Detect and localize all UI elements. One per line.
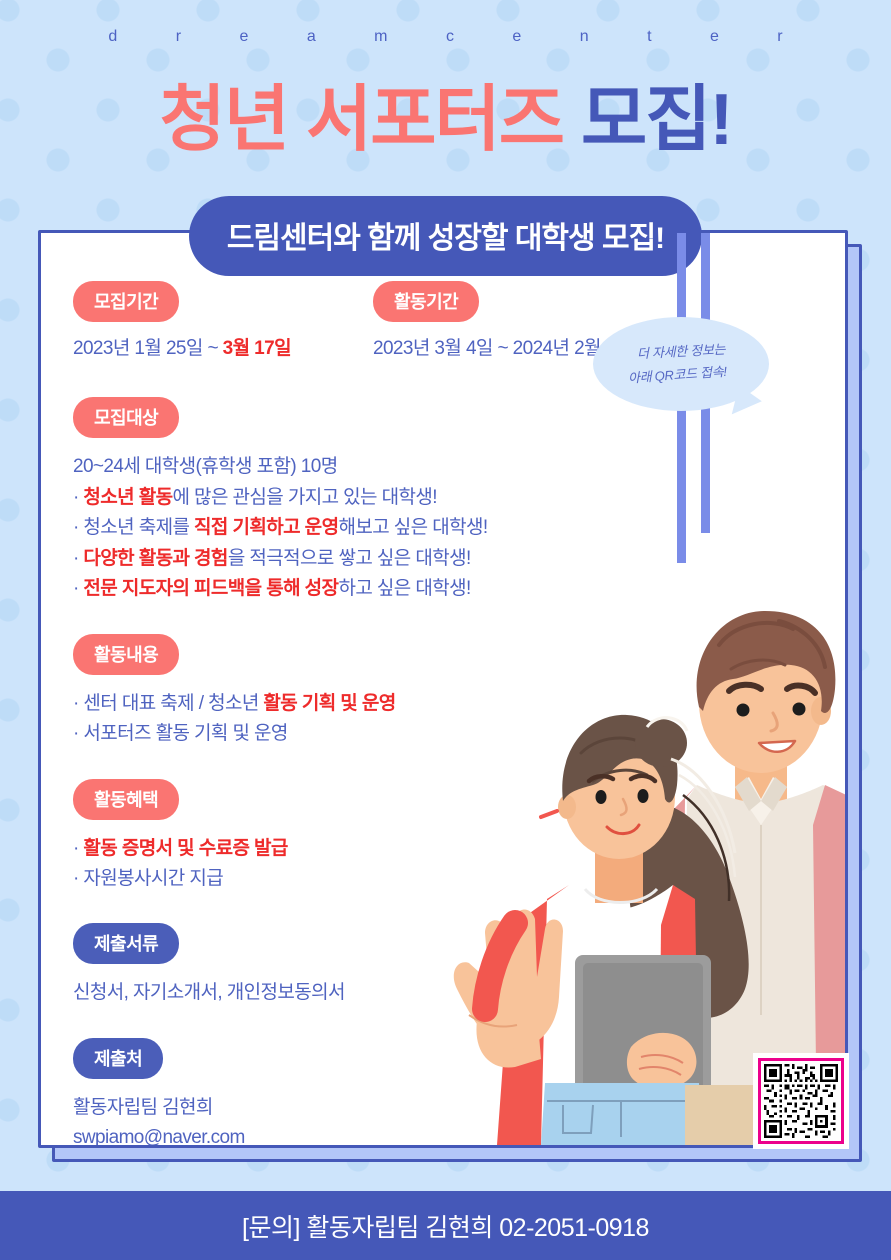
activity-content-item: · 서포터즈 활동 기획 및 운영 (73, 719, 673, 748)
target-item-rest: 을 적극적으로 쌓고 싶은 대학생! (228, 548, 471, 569)
target-block: 모집대상 20~24세 대학생(휴학생 포함) 10명 · 청소년 활동에 많은… (73, 397, 673, 603)
target-item-pre: 청소년 축제를 (83, 517, 194, 538)
submit-to-badge: 제출처 (73, 1038, 163, 1079)
target-item-rest: 해보고 싶은 대학생! (338, 517, 487, 538)
target-item-highlight: 직접 기획하고 운영 (194, 517, 338, 538)
activity-content-pre: 센터 대표 축제 / 청소년 (83, 693, 263, 714)
benefits-block: 활동혜택 · 활동 증명서 및 수료증 발급 · 자원봉사시간 지급 (73, 779, 673, 894)
target-item-highlight: 전문 지도자의 피드백을 통해 성장 (83, 578, 338, 599)
page-title-secondary: 모집! (581, 80, 731, 160)
target-badge: 모집대상 (73, 397, 179, 438)
recruit-period-block: 모집기간 2023년 1월 25일 ~ 3월 17일 (73, 281, 373, 363)
qr-code-frame (758, 1058, 844, 1144)
benefits-item: · 활동 증명서 및 수료증 발급 (73, 834, 673, 863)
card-content: 모집기간 2023년 1월 25일 ~ 3월 17일 활동기간 2023년 3월… (73, 281, 673, 1148)
bullet: · (73, 723, 83, 744)
target-item-rest: 에 많은 관심을 가지고 있는 대학생! (173, 487, 437, 508)
target-item-highlight: 청소년 활동 (83, 487, 172, 508)
bullet: · (73, 578, 83, 599)
submit-to-person: 활동자립팀 김현희 (73, 1093, 673, 1122)
target-item: · 전문 지도자의 피드백을 통해 성장하고 싶은 대학생! (73, 574, 673, 603)
bullet: · (73, 838, 83, 859)
bullet: · (73, 548, 83, 569)
recruit-period-badge: 모집기간 (73, 281, 179, 322)
benefits-item: · 자원봉사시간 지급 (73, 864, 673, 893)
target-item-rest: 하고 싶은 대학생! (338, 578, 470, 599)
bullet: · (73, 868, 83, 889)
target-item: · 청소년 활동에 많은 관심을 가지고 있는 대학생! (73, 483, 673, 512)
activity-content-badge: 활동내용 (73, 634, 179, 675)
page-title: 청년 서포터즈 모집! (0, 60, 891, 165)
submit-to-block: 제출처 활동자립팀 김현희 swpiamo@naver.com (73, 1038, 673, 1148)
submit-to-email[interactable]: swpiamo@naver.com (73, 1123, 673, 1148)
documents-block: 제출서류 신청서, 자기소개서, 개인정보동의서 (73, 923, 673, 1007)
target-intro: 20~24세 대학생(휴학생 포함) 10명 (73, 452, 673, 481)
target-item: · 다양한 활동과 경험을 적극적으로 쌓고 싶은 대학생! (73, 544, 673, 573)
documents-text: 신청서, 자기소개서, 개인정보동의서 (73, 978, 673, 1007)
target-item: · 청소년 축제를 직접 기획하고 운영해보고 싶은 대학생! (73, 513, 673, 542)
footer-bar: [문의] 활동자립팀 김현희 02-2051-0918 (0, 1191, 891, 1260)
bullet: · (73, 693, 83, 714)
subtitle-pill: 드림센터와 함께 성장할 대학생 모집! (189, 196, 702, 276)
activity-content-pre: 서포터즈 활동 기획 및 운영 (83, 723, 287, 744)
footer-contact-text: [문의] 활동자립팀 김현희 02-2051-0918 (242, 1208, 649, 1244)
bullet: · (73, 487, 83, 508)
qr-code[interactable] (753, 1053, 849, 1149)
activity-content-block: 활동내용 · 센터 대표 축제 / 청소년 활동 기획 및 운영 · 서포터즈 … (73, 634, 673, 749)
activity-content-highlight: 활동 기획 및 운영 (263, 693, 395, 714)
poster-root: d r e a m c e n t e r 청년 서포터즈 모집! 드림센터와 … (0, 0, 891, 1260)
recruit-period-deadline: 3월 17일 (223, 338, 291, 359)
activity-period-badge: 활동기간 (373, 281, 479, 322)
page-title-primary: 청년 서포터즈 (160, 80, 581, 160)
brand-wordmark: d r e a m c e n t e r (0, 28, 891, 46)
target-item-highlight: 다양한 활동과 경험 (83, 548, 227, 569)
benefits-highlight: 활동 증명서 및 수료증 발급 (83, 838, 287, 859)
recruit-period-text: 2023년 1월 25일 ~ 3월 17일 (73, 334, 373, 363)
benefits-pre: 자원봉사시간 지급 (83, 868, 223, 889)
documents-badge: 제출서류 (73, 923, 179, 964)
bullet: · (73, 517, 83, 538)
recruit-period-plain: 2023년 1월 25일 ~ (73, 338, 223, 359)
benefits-badge: 활동혜택 (73, 779, 179, 820)
period-row: 모집기간 2023년 1월 25일 ~ 3월 17일 활동기간 2023년 3월… (73, 281, 673, 363)
activity-content-item: · 센터 대표 축제 / 청소년 활동 기획 및 운영 (73, 689, 673, 718)
